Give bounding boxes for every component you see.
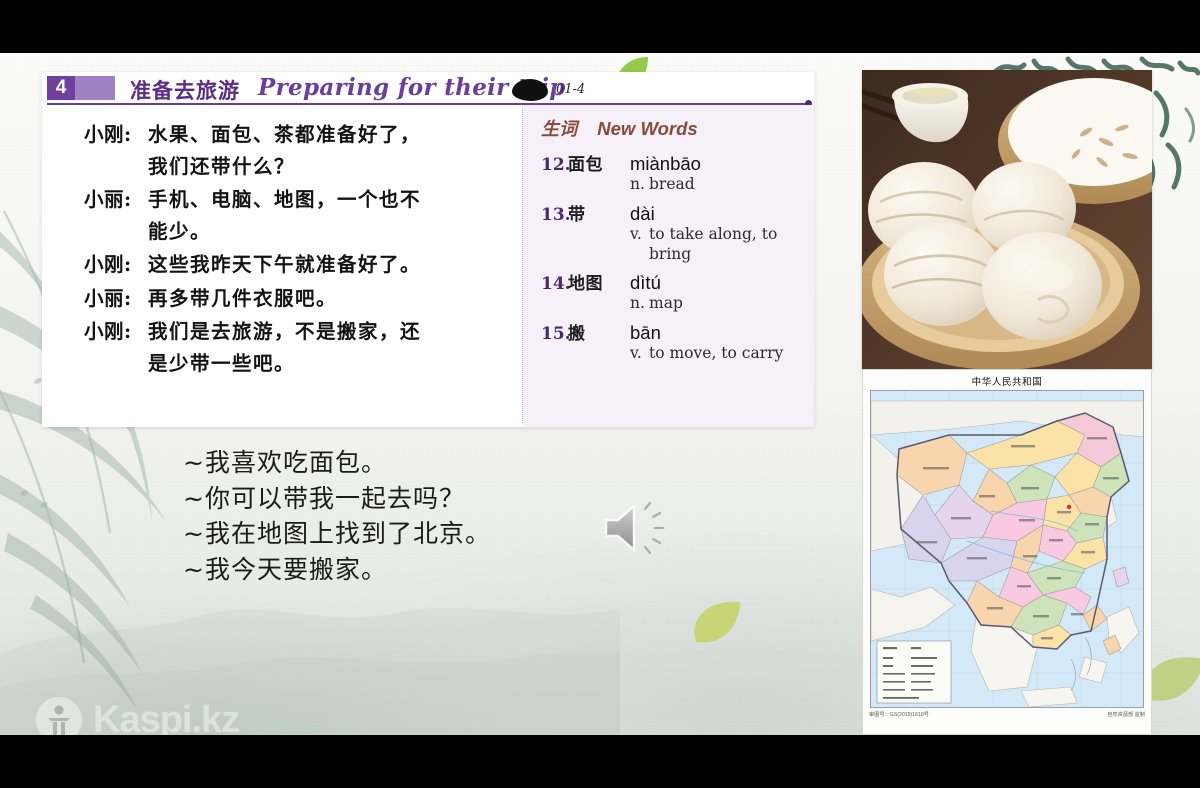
new-word-definition: n.bread — [630, 175, 814, 195]
new-word-hanzi: 带 — [568, 200, 630, 225]
track-id-label: 01-4 — [556, 82, 585, 97]
new-words-heading: 生词 New Words — [541, 115, 814, 141]
new-word-pinyin: dìtú — [630, 272, 661, 294]
example-sentence: ~你可以带我一起去吗？ — [183, 481, 491, 517]
letterbox-bar-top — [0, 0, 1200, 53]
china-map-figure: 中华人民共和国 — [862, 369, 1152, 735]
map-publisher: 自然资源部 监制 — [1107, 711, 1145, 718]
dialogue-text-line1: 手机、电脑、地图，一个也不 — [148, 188, 421, 211]
example-sentence: ~我喜欢吃面包。 — [183, 445, 491, 481]
example-sentence: ~我在地图上找到了北京。 — [183, 516, 491, 552]
new-word-gloss: to take along, to — [649, 225, 777, 243]
dialogue-text: 手机、电脑、地图，一个也不 能少。 — [148, 184, 421, 247]
textbook-card: 4 准备去旅游 Preparing for their trip 01-4 小刚… — [42, 72, 814, 427]
leaf-decoration-center — [690, 598, 746, 650]
dialogue-text-line1: 再多带几件衣服吧。 — [148, 287, 337, 310]
new-word-number: 15. — [541, 324, 568, 344]
dialogue-speaker: 小刚: — [84, 119, 148, 182]
dialogue-text-line1: 水果、面包、茶都准备好了， — [148, 123, 421, 146]
new-word-definition: n.map — [630, 294, 814, 314]
new-word-definition: v.to take along, to bring — [630, 225, 814, 265]
new-word-gloss: bread — [649, 175, 695, 193]
new-word-number: 14. — [541, 274, 568, 294]
dialogue-text: 再多带几件衣服吧。 — [148, 283, 337, 315]
speaker-icon[interactable] — [598, 497, 676, 559]
new-word-row: 15. 搬 bān — [541, 319, 814, 344]
new-word-row: 14. 地图 dìtú — [541, 269, 814, 294]
new-word-number: 13. — [541, 205, 568, 225]
dialogue-text-line2: 能少。 — [148, 216, 421, 248]
dialogue-text: 我们是去旅游，不是搬家，还 是少带一些吧。 — [148, 316, 421, 379]
slide-canvas: 4 准备去旅游 Preparing for their trip 01-4 小刚… — [0, 53, 1200, 735]
new-word-pos: v. — [630, 225, 649, 245]
dialogue-text: 水果、面包、茶都准备好了， 我们还带什么？ — [148, 119, 421, 182]
example-sentence: ~我今天要搬家。 — [183, 552, 491, 588]
slide-viewer: 4 准备去旅游 Preparing for their trip 01-4 小刚… — [0, 0, 1200, 788]
dialogue-column: 小刚: 水果、面包、茶都准备好了， 我们还带什么？ 小丽: 手机、电脑、地图，一… — [42, 105, 522, 427]
example-sentences: ~我喜欢吃面包。 ~你可以带我一起去吗？ ~我在地图上找到了北京。 ~我今天要搬… — [183, 445, 491, 587]
new-word-gloss: map — [649, 294, 683, 312]
card-header: 4 准备去旅游 Preparing for their trip 01-4 — [42, 72, 814, 105]
dialogue-line: 小刚: 水果、面包、茶都准备好了， 我们还带什么？ — [84, 119, 522, 182]
map-title: 中华人民共和国 — [863, 370, 1151, 390]
card-body: 小刚: 水果、面包、茶都准备好了， 我们还带什么？ 小丽: 手机、电脑、地图，一… — [42, 105, 814, 427]
new-word-hanzi: 面包 — [568, 150, 630, 175]
new-word-definition: v.to move, to carry — [630, 344, 814, 364]
dialogue-text-line2: 是少带一些吧。 — [148, 348, 421, 380]
new-word-row: 12. 面包 miànbāo — [541, 150, 814, 175]
new-word-pinyin: bān — [630, 322, 661, 344]
map-footer: 审图号：GS(2019)1618号 自然资源部 监制 — [863, 708, 1151, 718]
dialogue-speaker: 小刚: — [84, 316, 148, 379]
new-word-item: 12. 面包 miànbāo n.bread — [541, 150, 814, 195]
bread-photo — [862, 70, 1152, 370]
dialogue-text: 这些我昨天下午就准备好了。 — [148, 249, 421, 281]
dialogue-speaker: 小丽: — [84, 184, 148, 247]
map-canvas — [870, 390, 1144, 708]
new-word-pinyin: dài — [630, 203, 655, 225]
letterbox-bar-bottom — [0, 735, 1200, 788]
header-accent-bar — [75, 76, 115, 100]
new-word-hanzi: 搬 — [568, 319, 630, 344]
audio-blob-icon — [512, 79, 548, 101]
new-word-gloss-cont: bring — [649, 245, 814, 265]
new-words-heading-cn: 生词 — [541, 119, 577, 140]
watermark-text: Kaspi.kz — [93, 699, 239, 736]
new-word-pinyin: miànbāo — [630, 153, 701, 175]
new-word-number: 12. — [541, 155, 568, 175]
new-word-row: 13. 带 dài — [541, 200, 814, 225]
new-word-hanzi: 地图 — [568, 269, 630, 294]
dialogue-line: 小刚: 我们是去旅游，不是搬家，还 是少带一些吧。 — [84, 316, 522, 379]
new-words-column: 生词 New Words 12. 面包 miànbāo n.bread — [524, 105, 814, 427]
new-word-item: 13. 带 dài v.to take along, to bring — [541, 200, 814, 265]
dialogue-line: 小刚: 这些我昨天下午就准备好了。 — [84, 249, 522, 281]
dialogue-line: 小丽: 手机、电脑、地图，一个也不 能少。 — [84, 184, 522, 247]
new-word-gloss: to move, to carry — [649, 344, 783, 362]
new-word-item: 15. 搬 bān v.to move, to carry — [541, 319, 814, 364]
new-words-heading-en: New Words — [597, 118, 697, 139]
new-word-pos: n. — [630, 294, 649, 314]
dialogue-line: 小丽: 再多带几件衣服吧。 — [84, 283, 522, 315]
lesson-number-badge: 4 — [47, 76, 75, 100]
lesson-title-cn: 准备去旅游 — [130, 75, 240, 105]
map-approval-number: 审图号：GS(2019)1618号 — [869, 711, 929, 718]
new-word-pos: v. — [630, 344, 649, 364]
watermark: Kaspi.kz — [36, 697, 239, 735]
new-word-item: 14. 地图 dìtú n.map — [541, 269, 814, 314]
dialogue-speaker: 小丽: — [84, 283, 148, 315]
new-word-pos: n. — [630, 175, 649, 195]
dialogue-speaker: 小刚: — [84, 249, 148, 281]
kaspi-logo-icon — [36, 697, 82, 735]
dialogue-text-line2: 我们还带什么？ — [148, 151, 421, 183]
dialogue-text-line1: 我们是去旅游，不是搬家，还 — [148, 320, 421, 343]
dialogue-text-line1: 这些我昨天下午就准备好了。 — [148, 253, 421, 276]
